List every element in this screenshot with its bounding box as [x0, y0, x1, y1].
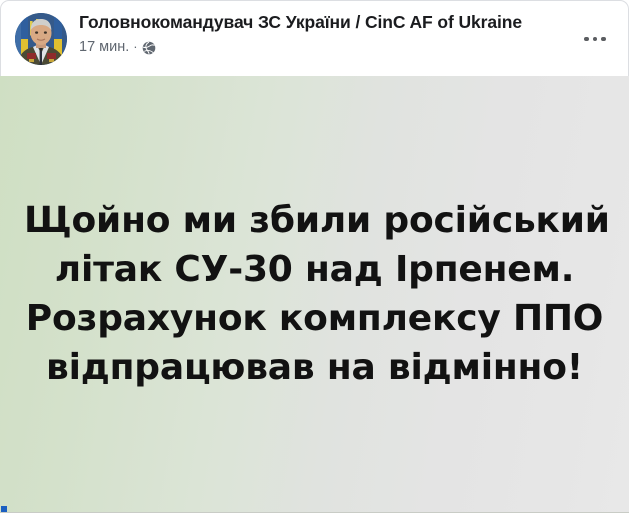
- caption-line-4: відпрацював на відмінно!: [24, 343, 605, 392]
- caption-line-2: літак СУ-30 над Ірпенем.: [24, 245, 605, 294]
- post-image-caption: Щойно ми збили російський літак СУ-30 на…: [0, 196, 629, 392]
- caption-line-1: Щойно ми збили російський: [24, 196, 605, 245]
- author-name[interactable]: Головнокомандувач ЗС України / CinC AF o…: [79, 11, 566, 33]
- caption-line-3: Розрахунок комплексу ППО: [24, 294, 605, 343]
- post-image[interactable]: Щойно ми збили російський літак СУ-30 на…: [0, 76, 629, 513]
- post-header-text: Головнокомандувач ЗС України / CinC AF o…: [79, 11, 566, 56]
- ellipsis-dot-1: [584, 37, 589, 42]
- meta-separator: ·: [133, 38, 137, 56]
- post-timestamp[interactable]: 17 мин.: [79, 38, 129, 56]
- ellipsis-dot-3: [601, 37, 606, 42]
- post-header: Головнокомандувач ЗС України / CinC AF o…: [0, 0, 629, 76]
- post-options-menu-button[interactable]: [578, 29, 612, 49]
- post-meta-row: 17 мин. ·: [79, 38, 566, 56]
- globe-icon[interactable]: [142, 41, 156, 55]
- facebook-post-card: Головнокомандувач ЗС України / CinC AF o…: [0, 0, 629, 513]
- ellipsis-dot-2: [593, 37, 598, 42]
- avatar[interactable]: [15, 13, 67, 65]
